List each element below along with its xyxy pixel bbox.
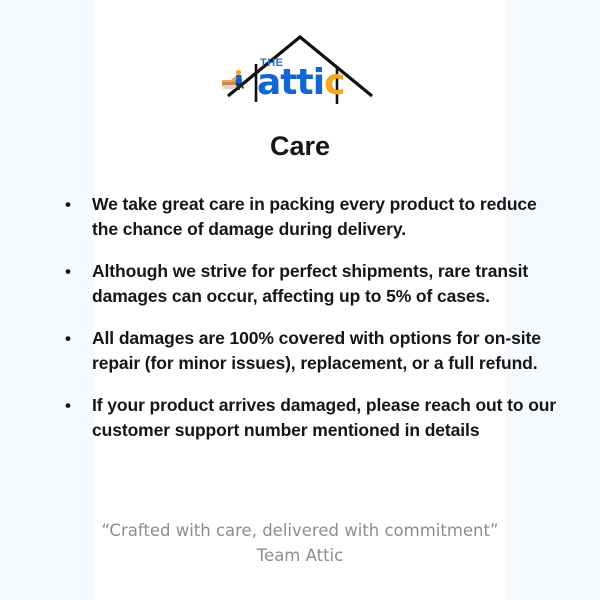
bullet-text: If your product arrives damaged, please …	[92, 393, 558, 443]
page-content: THE attic Care • We take great care in p…	[0, 0, 600, 600]
page-title: Care	[0, 131, 600, 162]
bullet-marker: •	[60, 393, 92, 418]
list-item: • If your product arrives damaged, pleas…	[60, 393, 558, 443]
mover-carrying-furniture-icon	[221, 66, 247, 92]
bullet-text: All damages are 100% covered with option…	[92, 326, 558, 376]
bullet-marker: •	[60, 259, 92, 284]
logo-wordmark: attic	[257, 65, 344, 101]
bullet-text: Although we strive for perfect shipments…	[92, 259, 558, 309]
footer-signature: Team Attic	[0, 543, 600, 568]
list-item: • Although we strive for perfect shipmen…	[60, 259, 558, 309]
bullet-marker: •	[60, 326, 92, 351]
footer-quote: “Crafted with care, delivered with commi…	[0, 518, 600, 543]
bullet-marker: •	[60, 192, 92, 217]
bullet-text: We take great care in packing every prod…	[92, 192, 558, 242]
logo-wordmark-accent: c	[324, 62, 344, 103]
list-item: • All damages are 100% covered with opti…	[60, 326, 558, 376]
care-policy-page: THE attic Care • We take great care in p…	[0, 0, 600, 600]
logo-wordmark-main: atti	[257, 62, 324, 103]
logo-inner: THE attic	[220, 22, 380, 118]
list-item: • We take great care in packing every pr…	[60, 192, 558, 242]
brand-logo: THE attic	[0, 22, 600, 118]
care-bullet-list: • We take great care in packing every pr…	[60, 192, 558, 443]
footer: “Crafted with care, delivered with commi…	[0, 518, 600, 568]
